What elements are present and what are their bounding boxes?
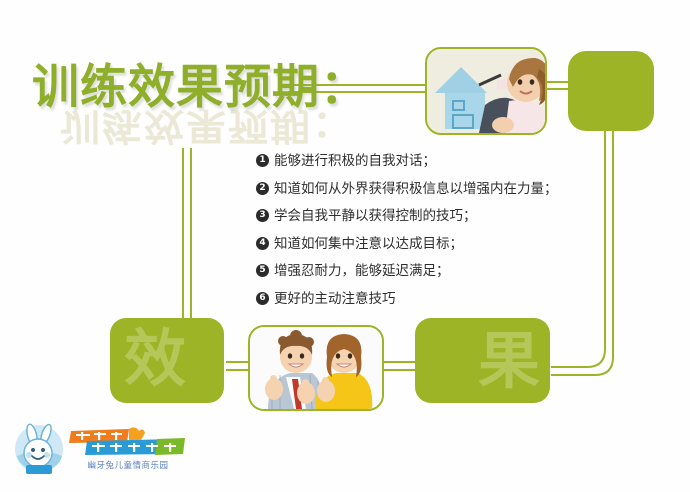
list-item: 3 学会自我平静以获得控制的技巧； [256,207,656,227]
watermark-char-guo: 果 [478,330,540,392]
list-item-text: 增强忍耐力，能够延迟满足； [274,262,656,282]
decor-block-bottom-right: 果 [415,318,550,403]
brand-logo: 幽牙兔儿童情商乐园 [12,418,187,480]
list-item: 6 更好的主动注意技巧 [256,290,656,310]
poster-canvas: 训练效果预期： 训练效果预期： 效 果 [0,0,690,492]
list-item-text: 更好的主动注意技巧 [274,290,656,310]
list-item-text: 能够进行积极的自我对话； [274,152,656,172]
photo-children-thumbs-up [248,325,384,411]
decor-block-top-right [568,51,654,131]
logo-banner-image [69,427,187,457]
photo-children-thumbs-up-image [250,327,382,409]
list-item-text: 学会自我平静以获得控制的技巧； [274,207,656,227]
list-item-text: 知道如何集中注意以达成目标； [274,235,656,255]
watermark-char-xiao: 效 [124,328,186,390]
logo-wordmark: 幽牙兔儿童情商乐园 [69,427,187,471]
list-marker: 2 [256,182,269,195]
list-marker: 3 [256,209,269,222]
list-marker: 4 [256,237,269,250]
photo-girl-painting [425,47,547,135]
rabbit-mascot-icon [12,422,66,476]
page-title: 训练效果预期： 训练效果预期： [32,48,452,148]
logo-tagline: 幽牙兔儿童情商乐园 [69,459,187,471]
expectation-list: 1 能够进行积极的自我对话； 2 知道如何从外界获得积极信息以增强内在力量； 3… [256,152,656,317]
list-item: 4 知道如何集中注意以达成目标； [256,235,656,255]
list-item: 1 能够进行积极的自我对话； [256,152,656,172]
list-marker: 1 [256,154,269,167]
list-marker: 5 [256,264,269,277]
list-item-text: 知道如何从外界获得积极信息以增强内在力量； [274,180,656,200]
rabbit-mascot-image [12,422,66,476]
logo-banner [69,427,187,457]
list-item: 2 知道如何从外界获得积极信息以增强内在力量； [256,180,656,200]
list-item: 5 增强忍耐力，能够延迟满足； [256,262,656,282]
page-title-text: 训练效果预期： [32,48,368,117]
photo-girl-painting-image [427,49,545,133]
list-marker: 6 [256,292,269,305]
decor-block-bottom-left: 效 [110,318,224,403]
